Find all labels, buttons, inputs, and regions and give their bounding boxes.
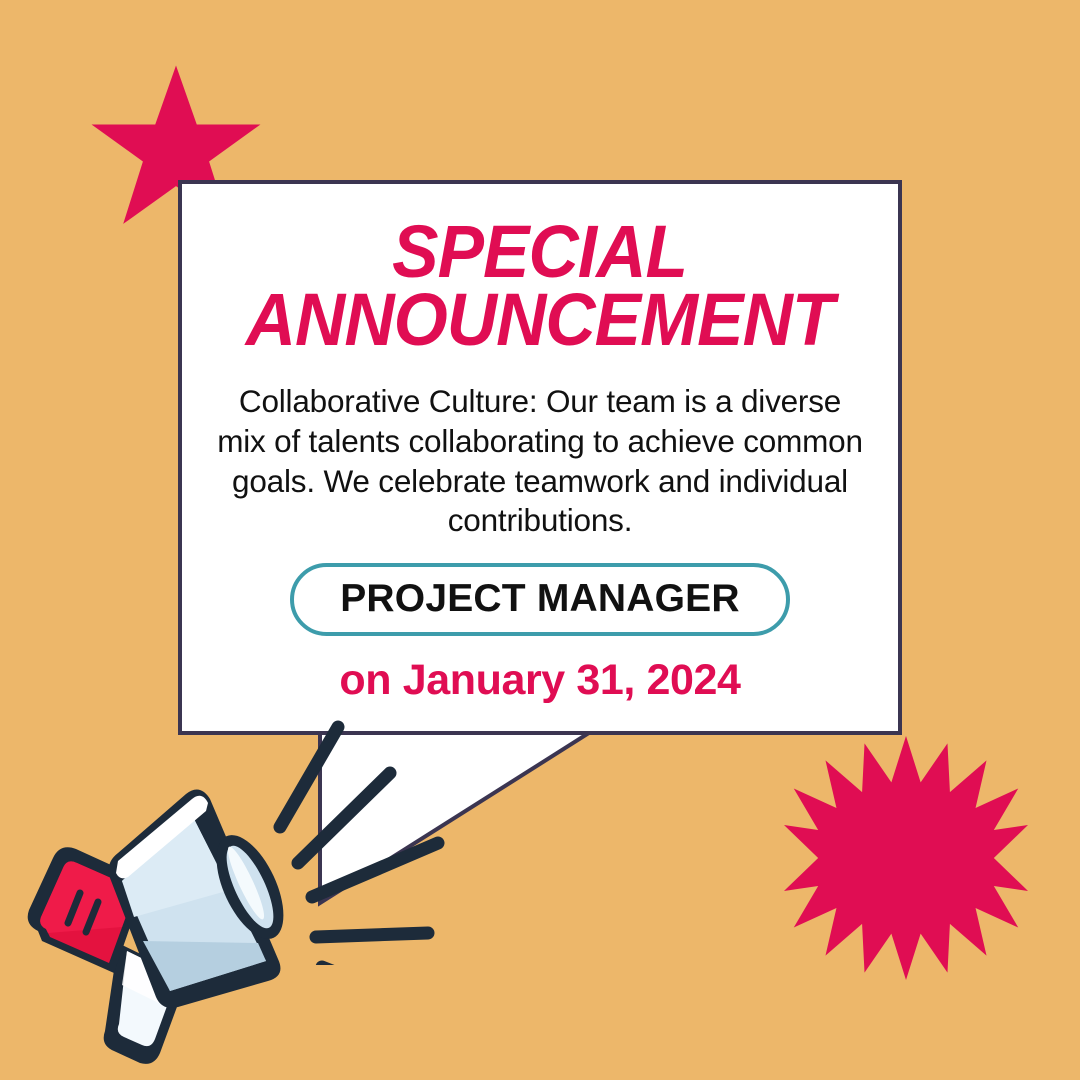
date-label: on January 31, 2024: [339, 656, 740, 705]
sound-lines-icon: [250, 715, 480, 965]
body-description: Collaborative Culture: Our team is a div…: [215, 382, 865, 541]
announcement-card: SPECIAL ANNOUNCEMENT Collaborative Cultu…: [178, 180, 902, 735]
starburst-icon: [784, 736, 1028, 980]
announcement-poster: SPECIAL ANNOUNCEMENT Collaborative Cultu…: [0, 0, 1080, 1080]
role-badge[interactable]: PROJECT MANAGER: [290, 563, 790, 636]
page-title: SPECIAL ANNOUNCEMENT: [246, 218, 834, 354]
